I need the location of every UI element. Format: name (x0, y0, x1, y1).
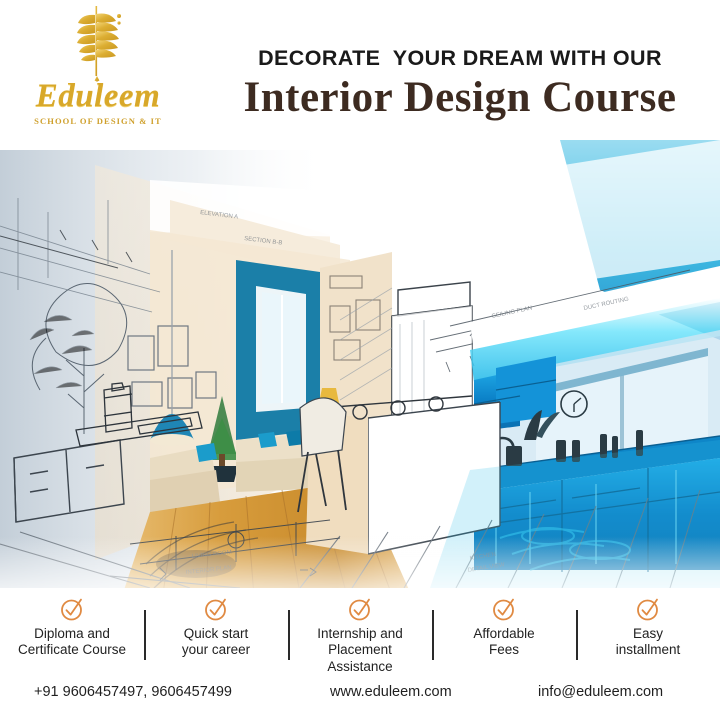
check-circle-icon (59, 596, 85, 622)
headline-eyebrow: DECORATE YOUR DREAM WITH OUR (210, 48, 710, 70)
feather-quill-icon (67, 4, 129, 82)
feature-item: Affordable Fees (432, 588, 576, 659)
feature-item: Easy installment (576, 588, 720, 659)
brand-tagline: SCHOOL OF DESIGN & IT (34, 116, 162, 126)
feature-item: Quick start your career (144, 588, 288, 659)
feature-label: Internship and Placement Assistance (317, 626, 403, 675)
interior-sketch-render-illustration: LIVING ROOM INTERIOR PLAN KITCHEN DETAIL… (0, 140, 720, 588)
features-bar: Diploma and Certificate Course Quick sta… (0, 588, 720, 676)
headline-block: DECORATE YOUR DREAM WITH OUR Interior De… (210, 48, 710, 120)
feature-label: Diploma and Certificate Course (18, 626, 126, 659)
check-circle-icon (203, 596, 229, 622)
brand-name: Eduleem (36, 80, 161, 113)
contact-footer: +91 9606457497, 9606457499 www.eduleem.c… (0, 676, 720, 720)
feature-item: Internship and Placement Assistance (288, 588, 432, 675)
page-title: Interior Design Course (210, 75, 710, 121)
contact-phone[interactable]: +91 9606457497, 9606457499 (34, 684, 232, 700)
hero-image: LIVING ROOM INTERIOR PLAN KITCHEN DETAIL… (0, 140, 720, 588)
check-circle-icon (491, 596, 517, 622)
promo-poster: Eduleem SCHOOL OF DESIGN & IT DECORATE Y… (0, 0, 720, 720)
contact-website[interactable]: www.eduleem.com (330, 684, 452, 700)
feature-item: Diploma and Certificate Course (0, 588, 144, 659)
check-circle-icon (635, 596, 661, 622)
brand-logo: Eduleem SCHOOL OF DESIGN & IT (8, 4, 188, 136)
feature-label: Easy installment (616, 626, 681, 659)
feature-label: Quick start your career (182, 626, 250, 659)
feature-label: Affordable Fees (473, 626, 534, 659)
poster-header: Eduleem SCHOOL OF DESIGN & IT DECORATE Y… (0, 0, 720, 140)
contact-email[interactable]: info@eduleem.com (538, 684, 663, 700)
check-circle-icon (347, 596, 373, 622)
